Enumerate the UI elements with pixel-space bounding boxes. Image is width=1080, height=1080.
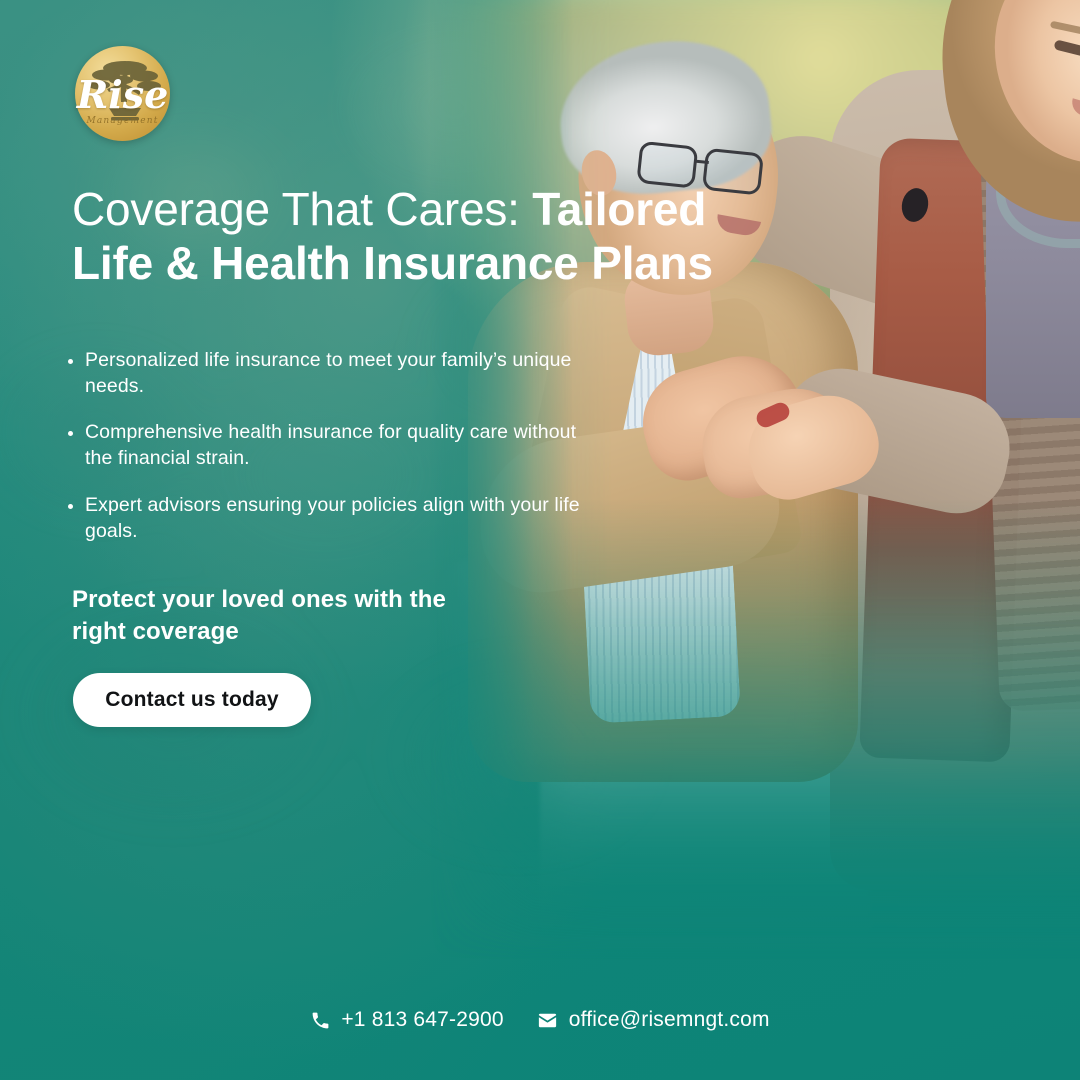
- cta-tagline: Protect your loved ones with the right c…: [72, 584, 472, 648]
- benefit-text: Comprehensive health insurance for quali…: [85, 421, 576, 469]
- email-contact[interactable]: office@risemngt.com: [536, 1008, 770, 1032]
- logo-subtitle: Management: [75, 116, 170, 126]
- bullet-dot-icon: [68, 359, 73, 364]
- bullet-dot-icon: [68, 504, 73, 509]
- footer-contact-bar: +1 813 647-2900 office@risemngt.com: [0, 1008, 1080, 1032]
- benefit-text: Expert advisors ensuring your policies a…: [85, 494, 580, 542]
- phone-contact[interactable]: +1 813 647-2900: [310, 1008, 503, 1032]
- email-address: office@risemngt.com: [569, 1008, 770, 1032]
- benefit-text: Personalized life insurance to meet your…: [85, 349, 572, 397]
- headline-light: Coverage That Cares:: [72, 183, 532, 235]
- mail-icon: [536, 1009, 559, 1032]
- list-item: Personalized life insurance to meet your…: [68, 348, 588, 399]
- phone-icon: [310, 1010, 331, 1031]
- bullet-dot-icon: [68, 431, 73, 436]
- benefits-list: Personalized life insurance to meet your…: [68, 348, 588, 544]
- phone-number: +1 813 647-2900: [341, 1008, 503, 1032]
- page-title: Coverage That Cares: Tailored Life & Hea…: [72, 182, 752, 291]
- list-item: Comprehensive health insurance for quali…: [68, 420, 588, 471]
- list-item: Expert advisors ensuring your policies a…: [68, 493, 588, 544]
- insurance-promo-poster: Rise Management Coverage That Cares: Tai…: [0, 0, 1080, 1080]
- contact-us-button[interactable]: Contact us today: [73, 673, 311, 727]
- logo-wordmark: Rise: [75, 76, 170, 114]
- rise-management-logo[interactable]: Rise Management: [75, 46, 170, 141]
